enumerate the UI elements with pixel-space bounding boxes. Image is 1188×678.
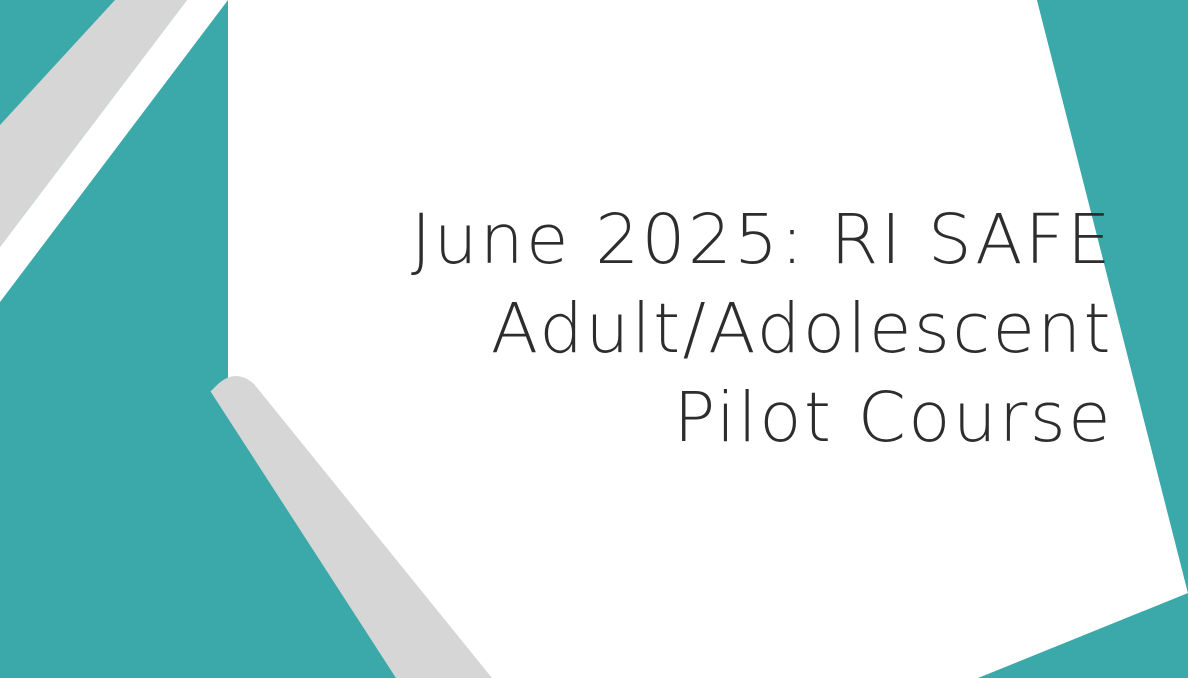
slide-title: June 2025: RI SAFE Adult/Adolescent Pilo…: [300, 196, 1113, 463]
title-line-3: Pilot Course: [300, 374, 1113, 463]
slide-canvas: June 2025: RI SAFE Adult/Adolescent Pilo…: [0, 0, 1188, 678]
title-line-1: June 2025: RI SAFE: [300, 196, 1113, 285]
title-line-2: Adult/Adolescent: [300, 285, 1113, 374]
